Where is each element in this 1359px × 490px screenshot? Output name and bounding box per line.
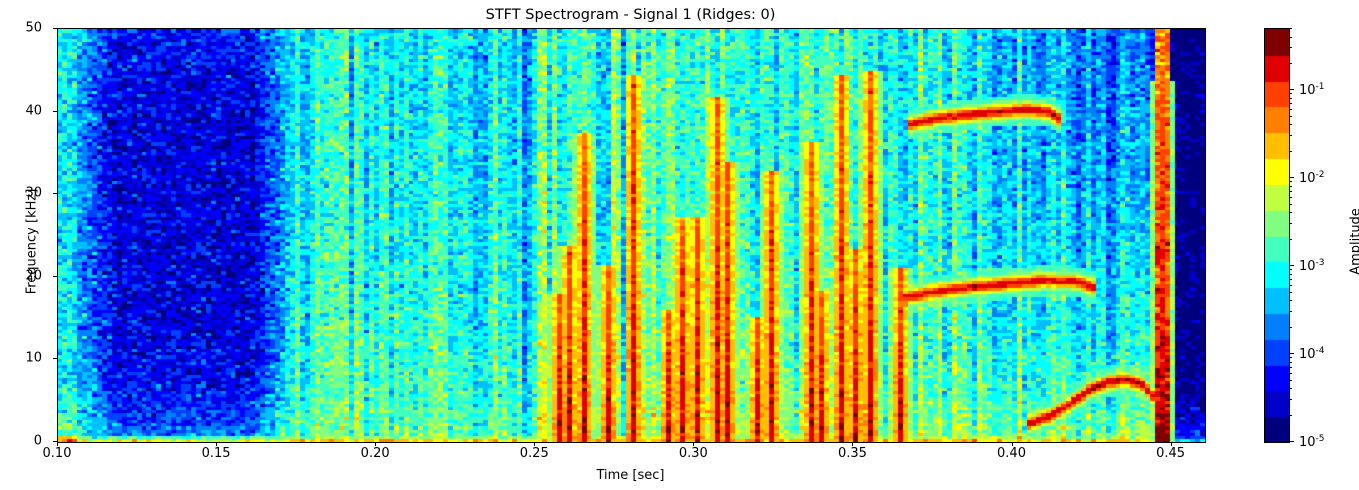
x-tick-label: 0.15 — [202, 447, 231, 460]
x-tick-mark — [852, 442, 853, 446]
spectrogram-image — [58, 29, 1205, 442]
spectrogram-axes — [57, 28, 1206, 443]
colorbar — [1264, 28, 1290, 443]
colorbar-minor-tick — [1289, 191, 1292, 192]
colorbar-minor-tick — [1289, 327, 1292, 328]
colorbar-minor-tick — [1289, 103, 1292, 104]
colorbar-minor-tick — [1289, 223, 1292, 224]
x-tick-mark — [1012, 442, 1013, 446]
y-tick-label: 40 — [25, 104, 42, 117]
x-tick-label: 0.35 — [838, 447, 867, 460]
colorbar-tick-mark — [1289, 89, 1294, 90]
y-tick-label: 10 — [25, 352, 42, 365]
y-tick-mark — [53, 358, 57, 359]
colorbar-minor-tick — [1289, 109, 1292, 110]
colorbar-minor-tick — [1289, 274, 1292, 275]
colorbar-minor-tick — [1289, 37, 1292, 38]
colorbar-minor-tick — [1289, 311, 1292, 312]
figure-title: STFT Spectrogram - Signal 1 (Ridges: 0) — [57, 6, 1204, 24]
x-tick-label: 0.40 — [997, 447, 1026, 460]
y-tick-label: 30 — [25, 187, 42, 200]
colorbar-minor-tick — [1289, 239, 1292, 240]
colorbar-minor-tick — [1289, 98, 1292, 99]
colorbar-tick-mark — [1289, 177, 1294, 178]
colorbar-tick-mark — [1289, 265, 1294, 266]
x-tick-label: 0.20 — [361, 447, 390, 460]
colorbar-tick-mark — [1289, 441, 1294, 442]
y-tick-mark — [53, 28, 57, 29]
colorbar-minor-tick — [1289, 373, 1292, 374]
colorbar-minor-tick — [1289, 300, 1292, 301]
colorbar-minor-tick — [1289, 135, 1292, 136]
x-tick-label: 0.45 — [1156, 447, 1185, 460]
colorbar-minor-tick — [1289, 380, 1292, 381]
x-tick-mark — [375, 442, 376, 446]
colorbar-minor-tick — [1289, 279, 1292, 280]
x-tick-mark — [534, 442, 535, 446]
colorbar-tick-mark — [1289, 353, 1294, 354]
x-axis-label: Time [sec] — [57, 468, 1204, 483]
y-tick-mark — [53, 193, 57, 194]
colorbar-tick-label: 10-1 — [1299, 81, 1325, 97]
colorbar-minor-tick — [1289, 63, 1292, 64]
colorbar-minor-tick — [1289, 399, 1292, 400]
x-tick-label: 0.25 — [520, 447, 549, 460]
y-axis-tick-labels: 01020304050 — [0, 0, 52, 490]
x-tick-mark — [57, 442, 58, 446]
x-tick-mark — [216, 442, 217, 446]
x-tick-mark — [693, 442, 694, 446]
colorbar-minor-tick — [1289, 212, 1292, 213]
colorbar-minor-tick — [1289, 415, 1292, 416]
colorbar-minor-tick — [1289, 357, 1292, 358]
colorbar-tick-label: 10-2 — [1299, 169, 1325, 185]
colorbar-minor-tick — [1289, 292, 1292, 293]
y-tick-label: 20 — [25, 269, 42, 282]
colorbar-minor-tick — [1289, 285, 1292, 286]
colorbar-minor-tick — [1289, 367, 1292, 368]
colorbar-tick-label: 10-3 — [1299, 257, 1325, 273]
colorbar-minor-tick — [1289, 93, 1292, 94]
colorbar-label: Amplitude — [1349, 182, 1359, 302]
y-tick-mark — [53, 276, 57, 277]
spectrogram-figure: STFT Spectrogram - Signal 1 (Ridges: 0) … — [0, 0, 1359, 490]
x-tick-label: 0.10 — [43, 447, 72, 460]
colorbar-minor-tick — [1289, 388, 1292, 389]
colorbar-tick-label: 10-5 — [1299, 433, 1325, 449]
x-tick-mark — [1171, 442, 1172, 446]
colorbar-minor-tick — [1289, 116, 1292, 117]
x-tick-label: 0.30 — [679, 447, 708, 460]
colorbar-minor-tick — [1289, 269, 1292, 270]
colorbar-gradient — [1265, 29, 1289, 442]
colorbar-minor-tick — [1289, 181, 1292, 182]
colorbar-tick-label: 10-4 — [1299, 345, 1325, 361]
colorbar-minor-tick — [1289, 197, 1292, 198]
y-tick-label: 50 — [25, 22, 42, 35]
colorbar-minor-tick — [1289, 186, 1292, 187]
colorbar-minor-tick — [1289, 47, 1292, 48]
y-tick-mark — [53, 111, 57, 112]
colorbar-minor-tick — [1289, 28, 1292, 29]
colorbar-minor-tick — [1289, 124, 1292, 125]
colorbar-minor-tick — [1289, 204, 1292, 205]
colorbar-minor-tick — [1289, 362, 1292, 363]
y-tick-label: 0 — [34, 435, 42, 448]
colorbar-minor-tick — [1289, 151, 1292, 152]
